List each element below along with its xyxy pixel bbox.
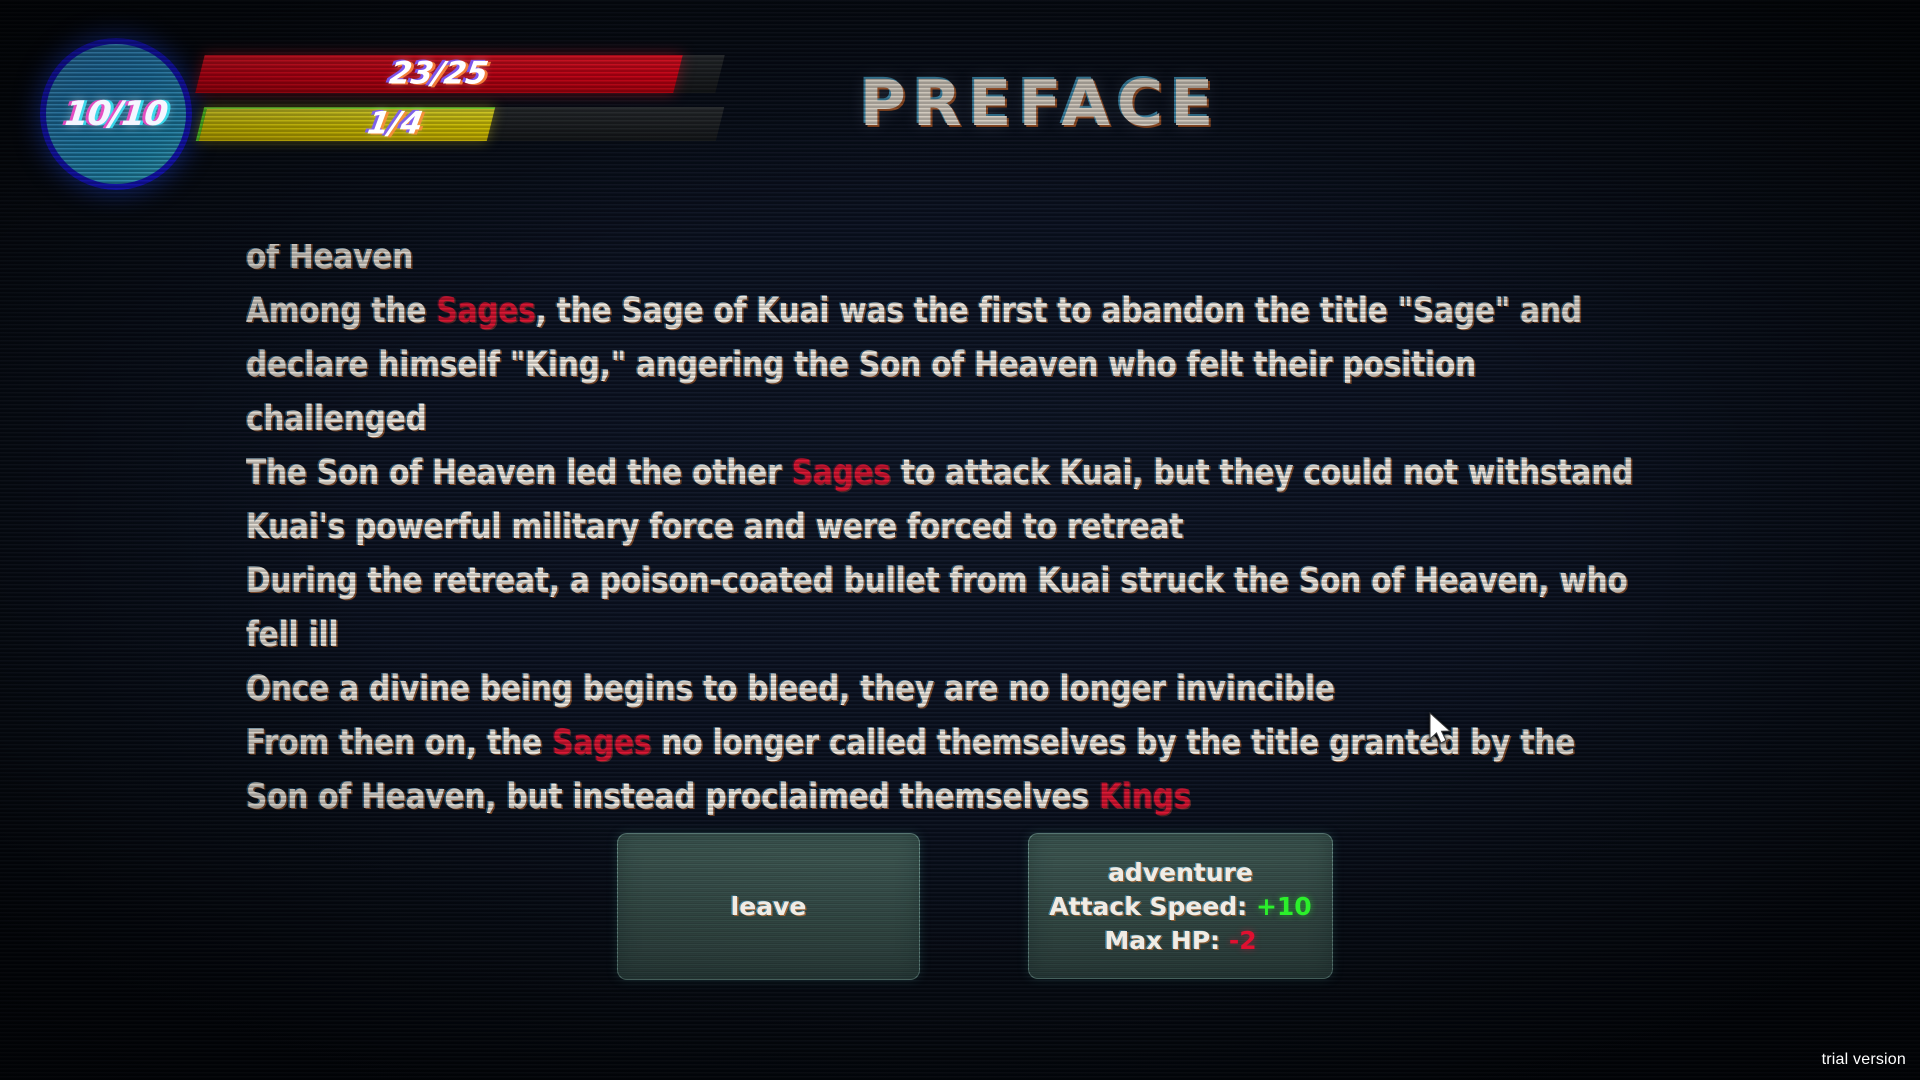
leave-button-label: leave	[731, 892, 807, 921]
story-line: During the retreat, a poison-coated bull…	[246, 554, 1590, 608]
choice-button-row: leave adventure Attack Speed: +10 Max HP…	[0, 833, 1920, 980]
story-line: From then on, the Sages no longer called…	[246, 716, 1590, 770]
story-highlight-term: Sages	[792, 453, 891, 493]
story-text-run: From then on, the	[246, 723, 552, 763]
story-line: of Heaven	[246, 244, 1590, 284]
avatar-level-value: 10/10	[63, 94, 169, 134]
story-text-run: challenged	[246, 399, 427, 439]
trial-version-watermark: trial version	[1822, 1051, 1906, 1069]
story-line: fell ill	[246, 608, 1590, 662]
story-text-run: to attack Kuai, but they could not withs…	[891, 453, 1633, 493]
leave-button[interactable]: leave	[617, 833, 920, 980]
story-line: Kuai's powerful military force and were …	[246, 500, 1590, 554]
story-text-run: Son of Heaven, but instead proclaimed th…	[246, 777, 1099, 817]
story-highlight-term: Sages	[552, 723, 651, 763]
story-text-run: fell ill	[246, 615, 338, 655]
story-highlight-term: Kings	[1099, 777, 1191, 817]
story-text-run: Among the	[246, 291, 436, 331]
story-text-run: of Heaven	[246, 244, 413, 277]
adventure-stat-attack-speed: Attack Speed: +10	[1049, 892, 1311, 921]
story-line: declare himself "King," angering the Son…	[246, 338, 1590, 392]
story-text-run: declare himself "King," angering the Son…	[246, 345, 1476, 385]
experience-bar-label: 1/4	[365, 105, 426, 141]
story-text-run: Kuai's powerful military force and were …	[246, 507, 1183, 547]
story-text-run: Once a divine being begins to bleed, the…	[246, 669, 1335, 709]
story-line: Son of Heaven, but instead proclaimed th…	[246, 770, 1590, 824]
adventure-stat-attack-speed-name: Attack Speed:	[1049, 892, 1247, 921]
adventure-button[interactable]: adventure Attack Speed: +10 Max HP: -2	[1028, 833, 1333, 979]
adventure-button-label: adventure	[1108, 858, 1253, 887]
story-text-run: no longer called themselves by the title…	[651, 723, 1575, 763]
health-bar-label: 23/25	[387, 55, 491, 91]
story-text-run: , the Sage of Kuai was the first to aban…	[536, 291, 1582, 331]
story-line: challenged	[246, 392, 1590, 446]
story-highlight-term: Sages	[436, 291, 535, 331]
story-text-panel: of HeavenAmong the Sages, the Sage of Ku…	[246, 244, 1676, 826]
story-text-run: During the retreat, a poison-coated bull…	[246, 561, 1628, 601]
story-line: Once a divine being begins to bleed, the…	[246, 662, 1590, 716]
story-line: Among the Sages, the Sage of Kuai was th…	[246, 284, 1590, 338]
story-line: The Son of Heaven led the other Sages to…	[246, 446, 1590, 500]
adventure-stat-max-hp-value: -2	[1229, 926, 1257, 955]
adventure-stat-max-hp-name: Max HP:	[1104, 926, 1220, 955]
adventure-stat-attack-speed-value: +10	[1256, 892, 1312, 921]
story-text-run: The Son of Heaven led the other	[246, 453, 792, 493]
adventure-stat-max-hp: Max HP: -2	[1104, 926, 1256, 955]
page-title: PREFACE	[0, 67, 1920, 140]
